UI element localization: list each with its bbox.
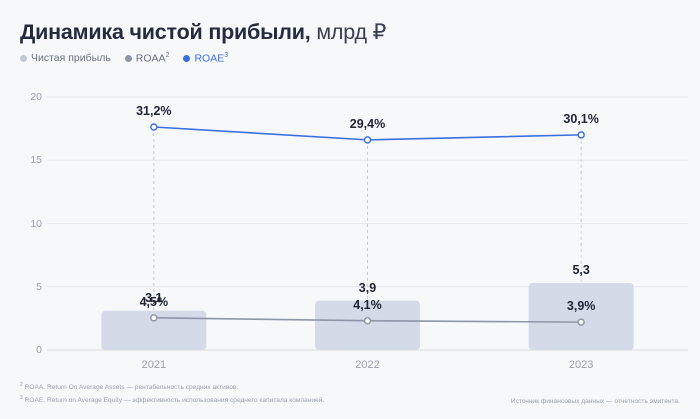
data-point-marker[interactable] [578, 319, 584, 325]
legend-label-roae-text: ROAE [194, 53, 224, 65]
legend-label-roaa-sup: 2 [166, 52, 170, 59]
bar-value-label: 3,9 [359, 281, 376, 295]
line-value-label: 31,2% [136, 104, 171, 118]
line-value-label: 3,9% [567, 299, 596, 313]
legend-item-roae[interactable]: ROAE3 [183, 52, 228, 65]
chart-title-main: Динамика чистой прибыли, [20, 20, 311, 44]
legend-label-roae-sup: 3 [224, 52, 228, 59]
legend-item-roaa[interactable]: ROAA2 [125, 52, 170, 65]
y-tick-label: 20 [12, 91, 42, 103]
x-tick-label: 2023 [569, 359, 593, 371]
data-point-marker[interactable] [365, 318, 371, 324]
page-title: Динамика чистой прибыли, млрд ₽ [20, 18, 680, 46]
line-value-label: 29,4% [350, 117, 385, 131]
data-point-marker[interactable] [151, 124, 157, 130]
data-point-marker[interactable] [578, 132, 584, 138]
legend-label-profit: Чистая прибыль [31, 52, 111, 64]
data-point-marker[interactable] [151, 315, 157, 321]
source-note: Источник финансовых данных — отчетность … [511, 397, 680, 408]
bar[interactable] [529, 283, 634, 350]
y-tick-label: 15 [12, 154, 42, 166]
line-value-label: 4,5% [140, 295, 169, 309]
footnotes: 2 ROAA, Return On Average Assets — рента… [20, 380, 324, 407]
y-tick-label: 5 [12, 281, 42, 293]
plot-area: 05101520 202120222023 3,13,95,34,5%4,1%3… [0, 85, 700, 375]
line-value-label: 4,1% [353, 298, 382, 312]
line-value-label: 30,1% [563, 112, 598, 126]
legend-label-roae: ROAE3 [194, 52, 228, 65]
chart-title-unit: млрд ₽ [311, 20, 387, 44]
footnote-roaa-text: ROAA, Return On Average Assets — рентабе… [23, 384, 238, 391]
chart-header: Динамика чистой прибыли, млрд ₽ Чистая п… [20, 18, 680, 65]
legend-dot-roae-icon [183, 55, 190, 62]
x-tick-label: 2022 [355, 359, 379, 371]
chart-legend: Чистая прибыль ROAA2 ROAE3 [20, 52, 680, 65]
x-tick-label: 2021 [142, 359, 166, 371]
bar-value-label: 5,3 [572, 263, 589, 277]
footnote-roae-text: ROAE, Return on Average Equity — эффекти… [23, 398, 324, 405]
data-point-marker[interactable] [365, 137, 371, 143]
chart-page: Динамика чистой прибыли, млрд ₽ Чистая п… [0, 0, 700, 419]
y-tick-label: 0 [12, 344, 42, 356]
y-tick-label: 10 [12, 218, 42, 230]
legend-label-roaa-text: ROAA [136, 53, 166, 65]
legend-item-profit[interactable]: Чистая прибыль [20, 52, 111, 64]
legend-dot-roaa-icon [125, 55, 132, 62]
legend-label-roaa: ROAA2 [136, 52, 170, 65]
footnote-roaa: 2 ROAA, Return On Average Assets — рента… [20, 380, 324, 394]
footnote-roae: 3 ROAE, Return on Average Equity — эффек… [20, 393, 324, 407]
legend-dot-profit-icon [20, 55, 27, 62]
